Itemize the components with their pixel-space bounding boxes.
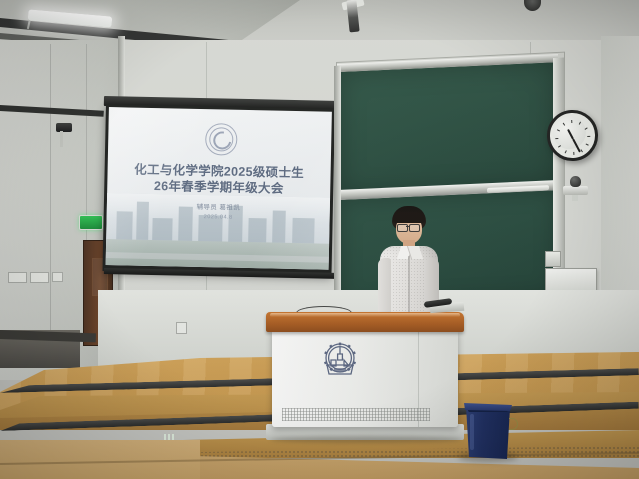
camera-mount [572, 195, 578, 201]
clock-minute-hand [572, 138, 580, 152]
wall-outlet[interactable] [8, 272, 27, 283]
clock-tick [558, 145, 561, 148]
university-seal-logo-icon [204, 123, 237, 156]
blackboard-upper-panel [340, 62, 556, 196]
speaker-left-arm [378, 258, 391, 320]
slide-photo-building [248, 218, 266, 242]
speaker-fringe [393, 212, 425, 223]
clock-tick [571, 120, 573, 123]
clock-tick [564, 150, 567, 153]
clock-tick [563, 122, 566, 125]
wall-switch-box[interactable] [545, 251, 561, 267]
wall-switch[interactable] [52, 272, 63, 282]
slide-title-block: 化工与化学学院2025级硕士生 26年春季学期年级大会 [107, 161, 331, 198]
slide-photo-building [152, 218, 172, 240]
side-projector-icon [56, 123, 72, 132]
university-gear-emblem-icon [318, 338, 362, 382]
projector-mount-pole [60, 131, 63, 147]
clock-tick [585, 143, 588, 146]
emergency-exit-sign-icon [79, 215, 103, 230]
glasses-icon [409, 224, 420, 232]
stage-wall-outlet[interactable] [176, 322, 187, 334]
blackboard-lower-panel [340, 190, 556, 306]
surveillance-camera-icon [570, 176, 581, 187]
lectern [266, 312, 464, 440]
lecture-hall-photo: 化工与化学学院2025级硕士生 26年春季学期年级大会 辅导员 葛祖凯 2025… [0, 0, 639, 479]
glasses-bridge [406, 226, 409, 227]
clock-tick [587, 136, 590, 138]
clock-tick [579, 122, 582, 125]
clock-tick [557, 129, 560, 132]
emblem-svg [318, 338, 362, 382]
lectern-shadow [270, 436, 462, 443]
clock-tick [555, 138, 558, 140]
slide-photo-building [178, 207, 193, 241]
bucket-highlight [470, 414, 474, 450]
clock-face [552, 115, 587, 150]
projection-screen-frame: 化工与化学学院2025级硕士生 26年春季学期年级大会 辅导员 葛祖凯 2025… [103, 104, 335, 276]
clock-hour-hand [567, 128, 574, 139]
clock-tick [573, 152, 575, 155]
blackboard-left-edge [334, 66, 341, 314]
wall-outlet[interactable] [30, 272, 49, 283]
projection-screen: 化工与化学学院2025级硕士生 26年春季学期年级大会 辅导员 葛祖凯 2025… [106, 107, 332, 270]
clock-tick [585, 127, 588, 130]
lectern-top-surface [266, 312, 464, 332]
lectern-top-highlight [270, 313, 460, 317]
lectern-speaker-grille [282, 408, 430, 421]
wall-seam [50, 44, 51, 344]
camera-bracket [563, 186, 588, 195]
